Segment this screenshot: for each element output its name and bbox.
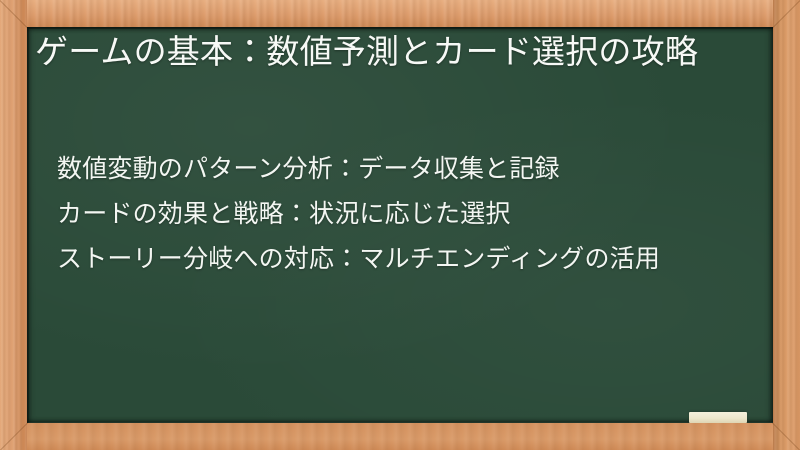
slide-title-line-2: の攻略 — [598, 33, 698, 70]
frame-bottom-rail — [0, 423, 800, 450]
slide-title: ゲームの基本：数値予測とカード選択の攻略 — [35, 30, 743, 74]
frame-top-rail — [0, 0, 800, 27]
chalk-stick-icon — [689, 412, 747, 423]
blackboard-slide: ゲームの基本：数値予測とカード選択の攻略 数値変動のパターン分析：データ収集と記… — [0, 0, 800, 450]
bullet-item-1: 数値変動のパターン分析：データ収集と記録 — [57, 153, 733, 187]
bullet-item-2: カードの効果と戦略：状況に応じた選択 — [57, 198, 733, 232]
slide-bullet-list: 数値変動のパターン分析：データ収集と記録 カードの効果と戦略：状況に応じた選択 … — [57, 153, 733, 287]
frame-left-rail — [0, 0, 27, 450]
frame-right-rail — [773, 0, 800, 450]
bullet-item-3: ストーリー分岐への対応：マルチエンディングの活用 — [57, 243, 733, 277]
slide-title-line-1: ゲームの基本：数値予測とカード選択 — [35, 33, 598, 70]
chalkboard-surface: ゲームの基本：数値予測とカード選択の攻略 数値変動のパターン分析：データ収集と記… — [27, 27, 773, 423]
